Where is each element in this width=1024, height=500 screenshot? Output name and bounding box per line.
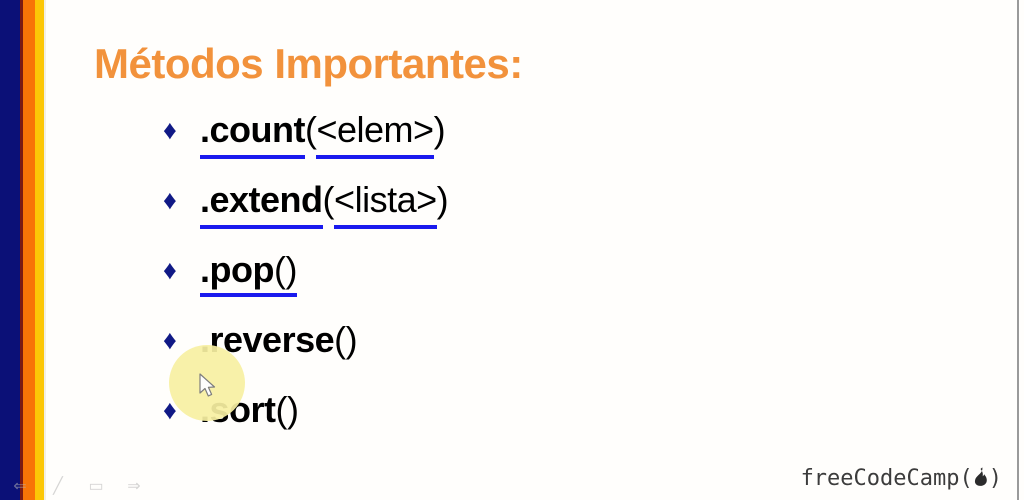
method-signature: .count(<elem>) bbox=[200, 112, 445, 148]
list-item: ♦ .pop() bbox=[163, 252, 863, 322]
method-name: .count bbox=[200, 109, 305, 150]
diamond-bullet-icon: ♦ bbox=[163, 187, 200, 214]
open-paren: ( bbox=[276, 389, 288, 430]
method-signature: .pop() bbox=[200, 252, 297, 288]
open-paren: ( bbox=[305, 109, 317, 150]
sidebar-stripe-gold bbox=[35, 0, 44, 500]
method-list: ♦ .count(<elem>) ♦ .extend(<lista>) ♦ .p… bbox=[163, 112, 863, 462]
presentation-slide: Métodos Importantes: ♦ .count(<elem>) ♦ … bbox=[0, 0, 1024, 500]
frame-tool-icon[interactable]: ▭ bbox=[86, 476, 106, 496]
method-argument: <elem> bbox=[316, 109, 433, 150]
open-paren: ( bbox=[323, 179, 335, 220]
brand-text: freeCodeCamp( bbox=[801, 466, 973, 491]
previous-slide-icon[interactable]: ⇐ bbox=[10, 476, 30, 496]
page-title: Métodos Importantes: bbox=[94, 40, 523, 88]
sidebar-stripe-navy bbox=[0, 0, 20, 500]
list-item: ♦ .extend(<lista>) bbox=[163, 182, 863, 252]
brand-close-paren: ) bbox=[989, 466, 1002, 491]
list-item: ♦ .reverse() bbox=[163, 322, 863, 392]
next-slide-icon[interactable]: ⇒ bbox=[124, 476, 144, 496]
close-paren: ) bbox=[437, 179, 449, 220]
sidebar-stripe-orange bbox=[23, 0, 35, 500]
close-paren: ) bbox=[434, 109, 446, 150]
close-paren: ) bbox=[285, 249, 297, 290]
sidebar-stripe-edge bbox=[44, 0, 46, 500]
freecodecamp-logo: freeCodeCamp( ) bbox=[801, 466, 1002, 492]
method-argument: <lista> bbox=[334, 179, 437, 220]
pen-tool-icon[interactable]: ╱ bbox=[48, 476, 68, 496]
open-paren: ( bbox=[334, 319, 346, 360]
list-item: ♦ .count(<elem>) bbox=[163, 112, 863, 182]
method-signature: .extend(<lista>) bbox=[200, 182, 448, 218]
list-item: ♦ .sort() bbox=[163, 392, 863, 462]
diamond-bullet-icon: ♦ bbox=[163, 117, 200, 144]
diamond-bullet-icon: ♦ bbox=[163, 257, 200, 284]
open-paren: ( bbox=[274, 249, 286, 290]
slide-toolbar: ⇐ ╱ ▭ ⇒ bbox=[10, 476, 144, 496]
close-paren: ) bbox=[346, 319, 358, 360]
method-name: .pop bbox=[200, 249, 274, 290]
method-name: .extend bbox=[200, 179, 323, 220]
mouse-cursor-icon bbox=[199, 373, 217, 399]
right-edge-rule bbox=[1017, 0, 1019, 500]
close-paren: ) bbox=[287, 389, 299, 430]
flame-icon bbox=[973, 467, 989, 492]
